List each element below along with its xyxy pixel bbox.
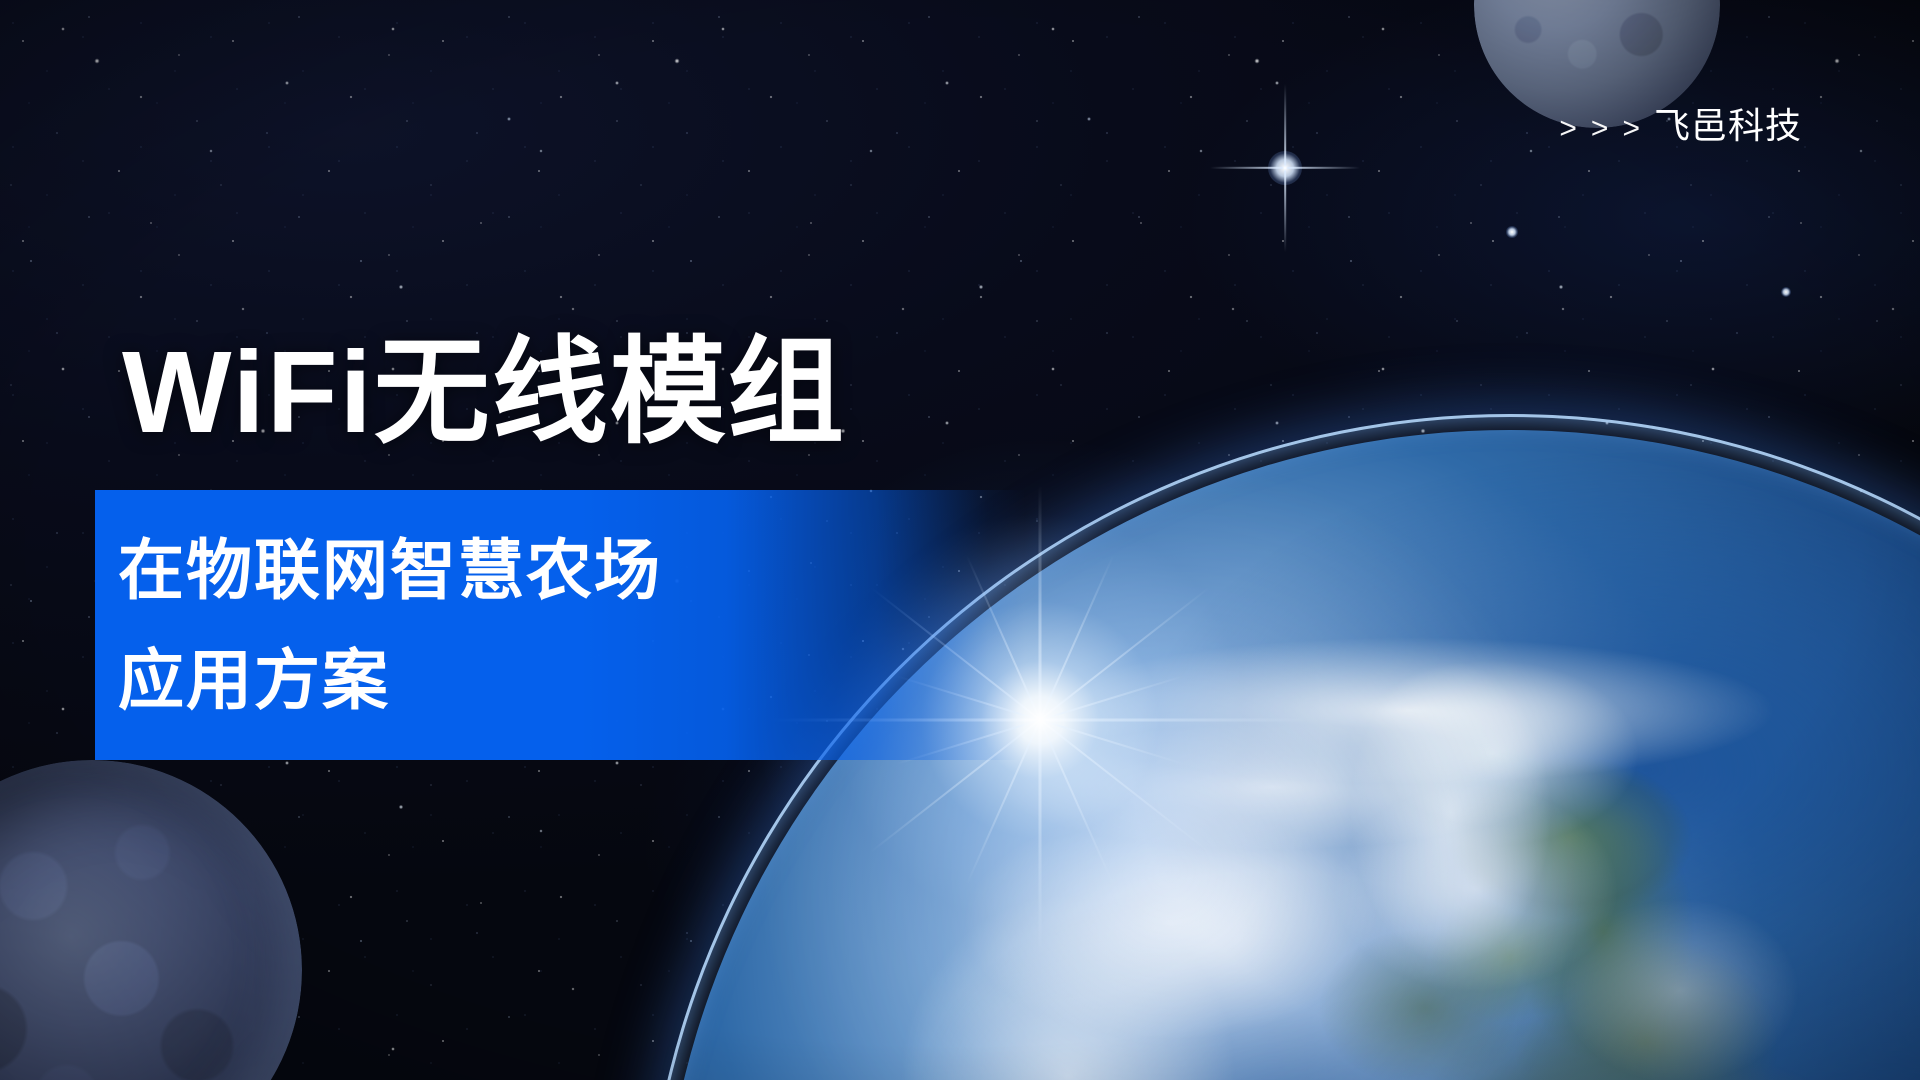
subtitle-line-2: 应用方案 [118, 647, 1025, 713]
subtitle-band: 在物联网智慧农场 应用方案 [95, 490, 1025, 760]
brand-name: 飞邑科技 [1654, 108, 1802, 144]
slide-canvas: > > > 飞邑科技 WiFi无线模组 在物联网智慧农场 应用方案 [0, 0, 1920, 1080]
chevron-right-icon: > [1559, 114, 1577, 144]
chevron-right-icon: > [1591, 114, 1609, 144]
brand-lockup: > > > 飞邑科技 [1559, 108, 1802, 144]
headline-block: WiFi无线模组 在物联网智慧农场 应用方案 [0, 330, 1200, 455]
chevron-right-icon: > [1622, 114, 1640, 144]
subtitle-line-1: 在物联网智慧农场 [118, 537, 1025, 603]
page-title: WiFi无线模组 [0, 330, 1200, 455]
